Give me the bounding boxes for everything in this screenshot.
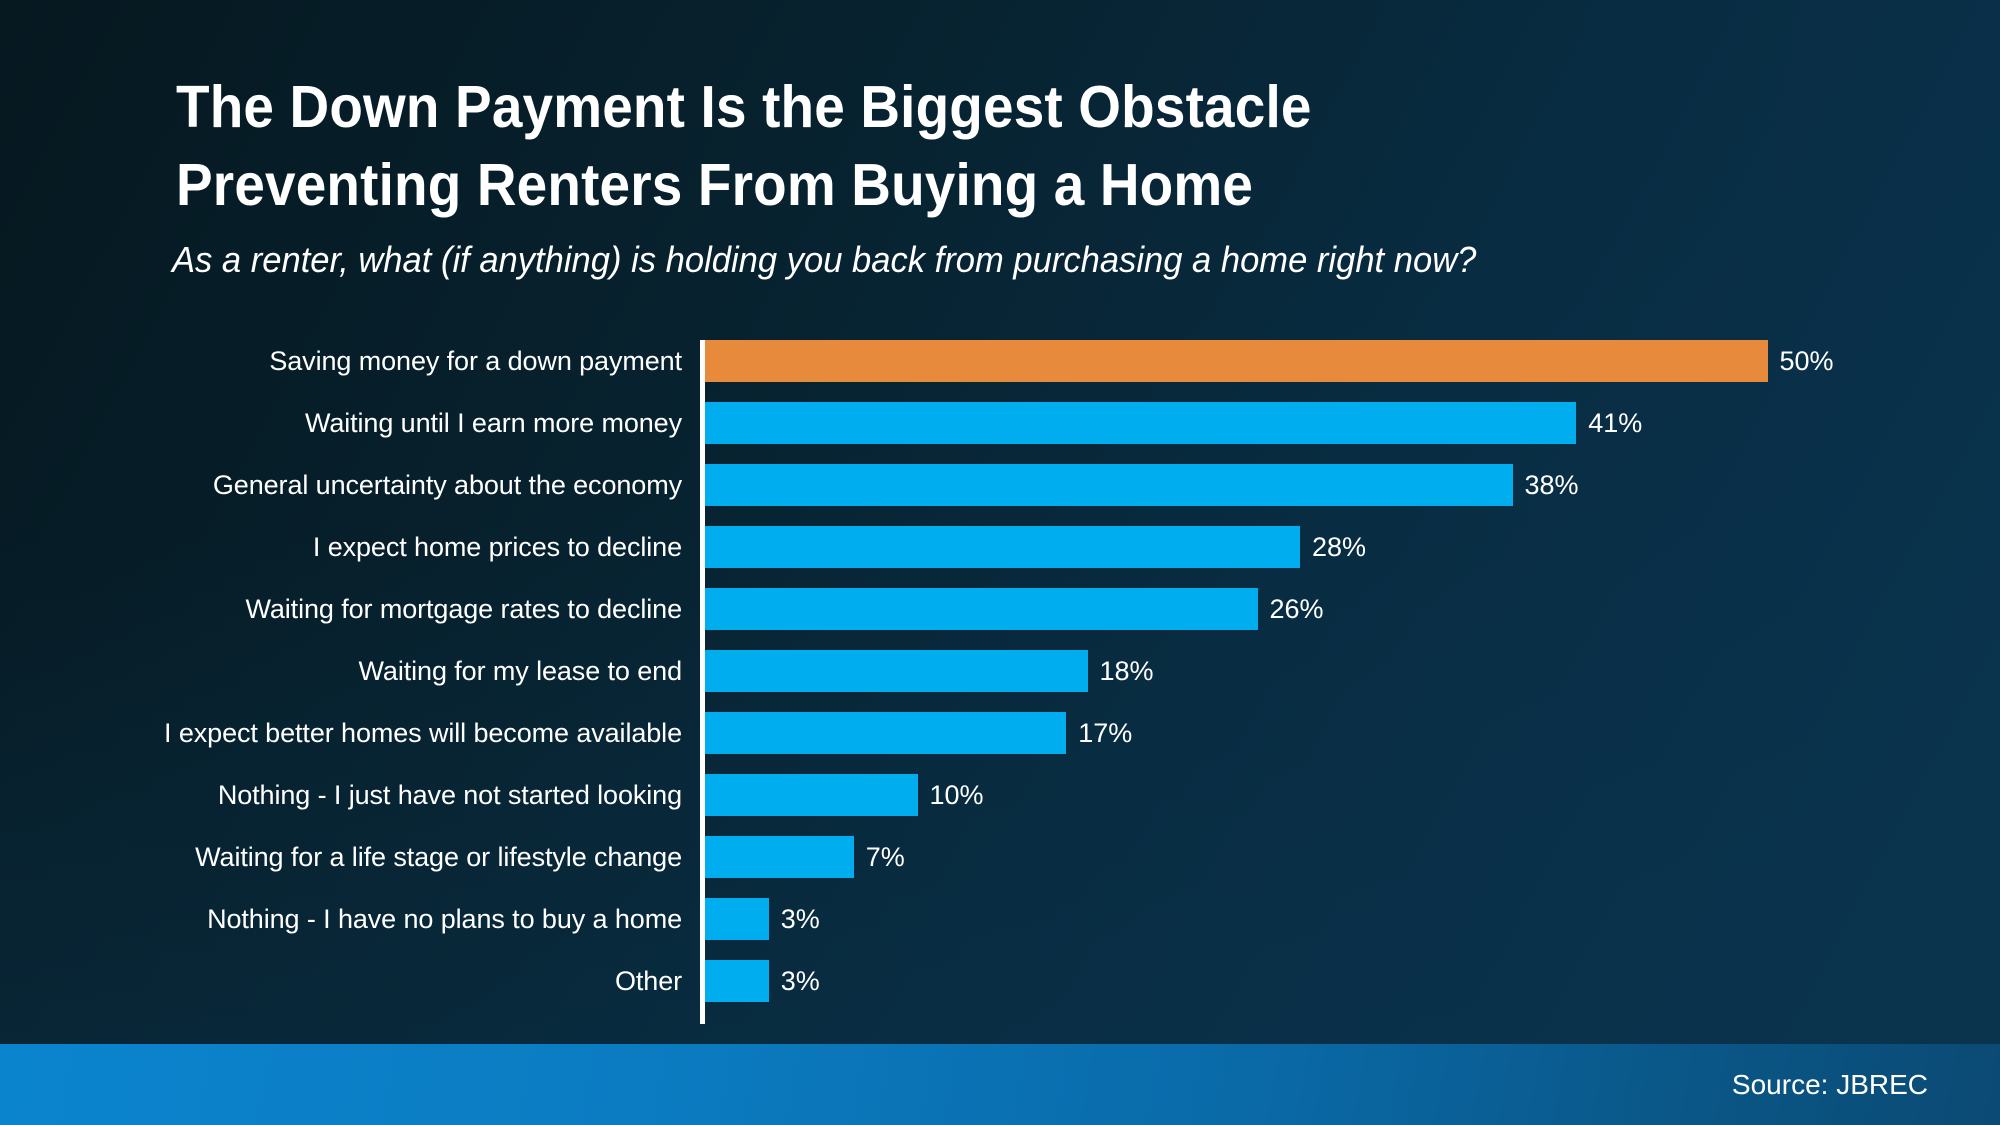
bar-row: Nothing - I just have not started lookin… [0,764,2000,826]
bar-category-label: I expect home prices to decline [0,516,682,578]
bar-value-label: 10% [930,764,984,826]
chart-canvas: The Down Payment Is the Biggest Obstacle… [0,0,2000,1125]
bar[interactable] [705,588,1258,630]
bar-category-label: Waiting for my lease to end [0,640,682,702]
bar-row: Other3% [0,950,2000,1012]
bar-row: I expect home prices to decline28% [0,516,2000,578]
bar-value-label: 26% [1270,578,1324,640]
bar-value-label: 17% [1078,702,1132,764]
bar-category-label: Saving money for a down payment [0,330,682,392]
bar-value-label: 28% [1312,516,1366,578]
bar[interactable] [705,526,1300,568]
source-label: Source: JBREC [1732,1044,1928,1125]
bar-value-label: 38% [1525,454,1579,516]
bar[interactable] [705,960,769,1002]
bar[interactable] [705,402,1576,444]
bar-value-label: 50% [1780,330,1834,392]
footer-band: Source: JBREC [0,1044,2000,1125]
bar-category-label: Waiting until I earn more money [0,392,682,454]
bar-value-label: 18% [1100,640,1154,702]
bar-category-label: Nothing - I just have not started lookin… [0,764,682,826]
chart-subtitle: As a renter, what (if anything) is holdi… [172,238,1708,282]
bar-category-label: Waiting for a life stage or lifestyle ch… [0,826,682,888]
bar[interactable] [705,650,1088,692]
bar-row: Waiting for my lease to end18% [0,640,2000,702]
bar-row: Waiting for mortgage rates to decline26% [0,578,2000,640]
bar-category-label: Waiting for mortgage rates to decline [0,578,682,640]
bar[interactable] [705,898,769,940]
bar-row: Waiting for a life stage or lifestyle ch… [0,826,2000,888]
bar-category-label: General uncertainty about the economy [0,454,682,516]
bar-row: Waiting until I earn more money41% [0,392,2000,454]
bar-value-label: 41% [1588,392,1642,454]
bar[interactable] [705,464,1513,506]
bar-row: I expect better homes will become availa… [0,702,2000,764]
bar-category-label: I expect better homes will become availa… [0,702,682,764]
bar-value-label: 7% [866,826,905,888]
bar-row: Nothing - I have no plans to buy a home3… [0,888,2000,950]
bar-category-label: Nothing - I have no plans to buy a home [0,888,682,950]
bar-value-label: 3% [781,950,820,1012]
bar[interactable] [705,774,918,816]
bar[interactable] [705,836,854,878]
bar[interactable] [705,712,1066,754]
bar-row: General uncertainty about the economy38% [0,454,2000,516]
bar[interactable] [705,340,1768,382]
bar-row: Saving money for a down payment50% [0,330,2000,392]
bar-value-label: 3% [781,888,820,950]
chart-title: The Down Payment Is the Biggest Obstacle… [176,68,1571,224]
bar-chart-plot-area: Saving money for a down payment50%Waitin… [0,330,2000,1030]
bar-category-label: Other [0,950,682,1012]
